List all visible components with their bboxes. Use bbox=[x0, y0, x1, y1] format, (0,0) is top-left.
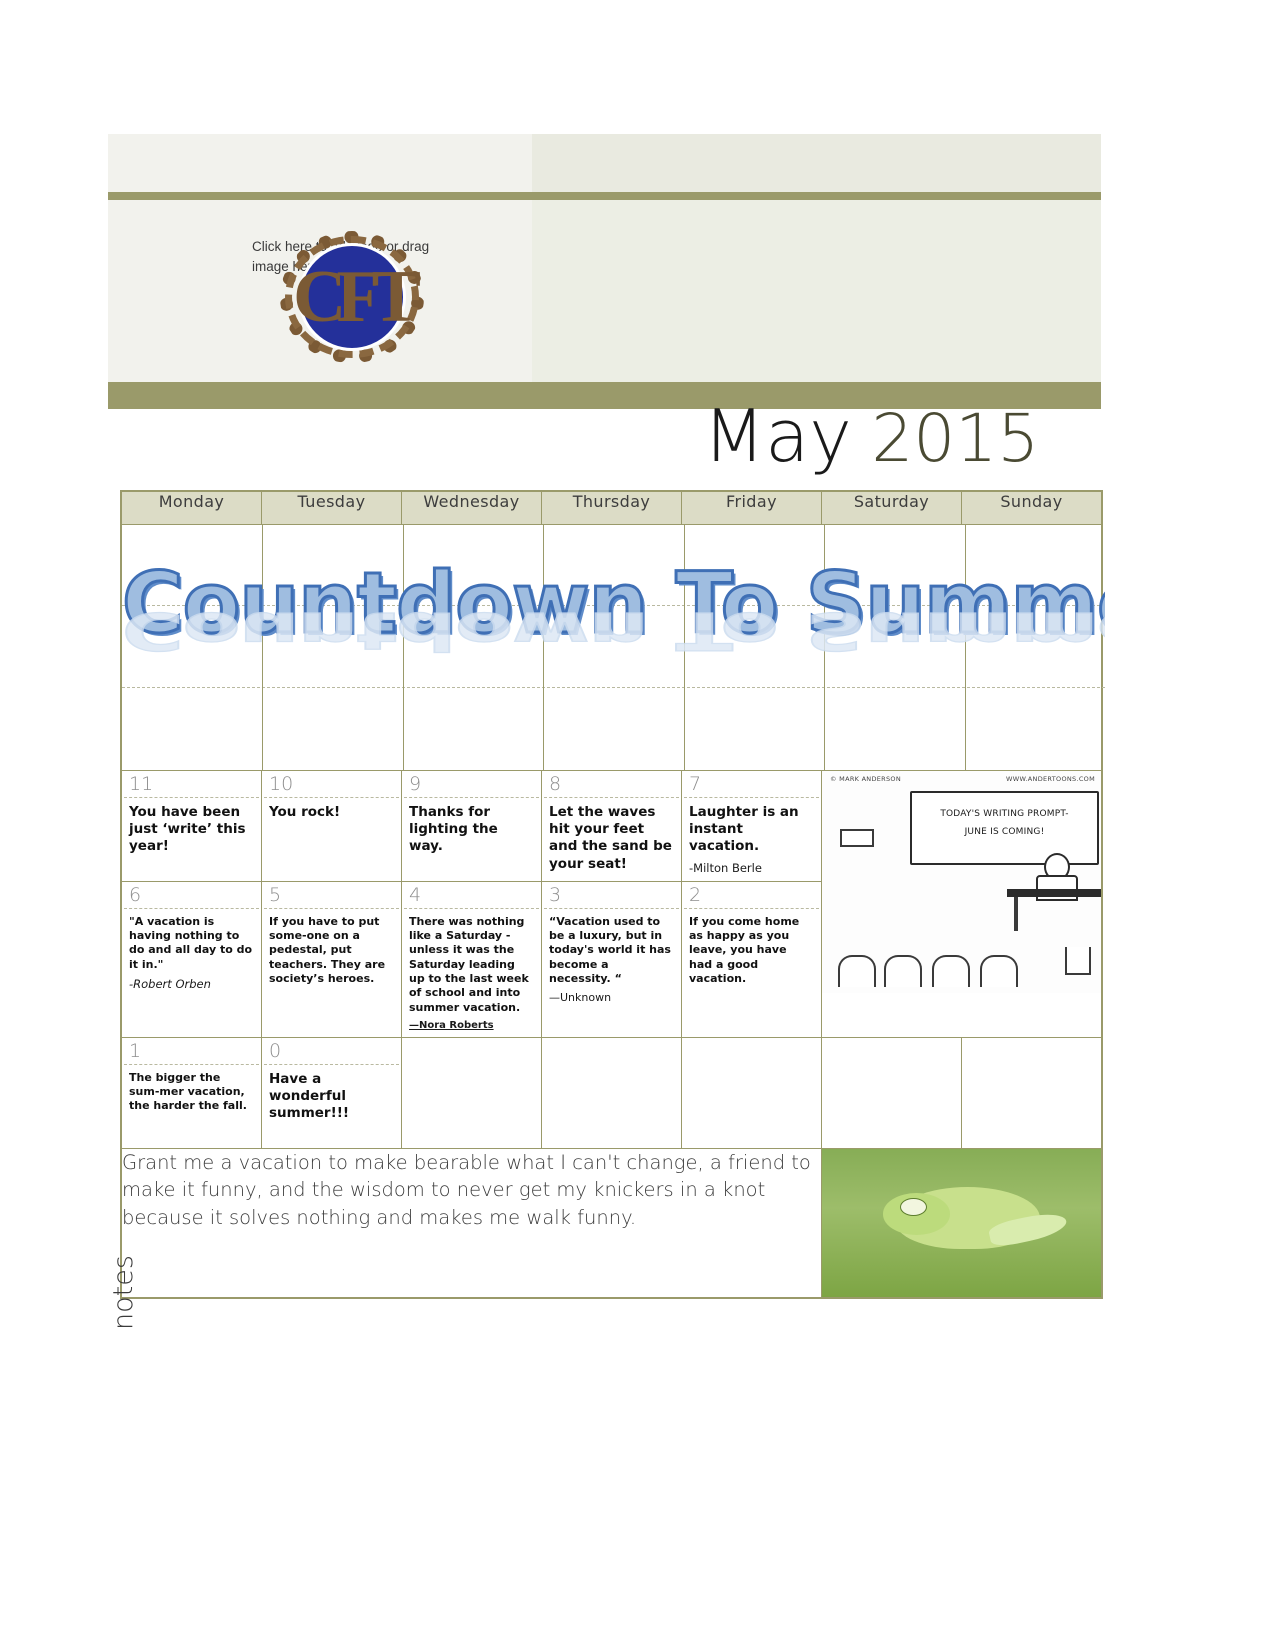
day-cell-7[interactable]: 7 Laughter is an instant vacation. -Milt… bbox=[682, 771, 822, 882]
banner-column-line bbox=[262, 525, 263, 770]
day-number: 10 bbox=[262, 771, 401, 797]
day-number: 7 bbox=[682, 771, 821, 797]
day-note-attribution: —Unknown bbox=[542, 990, 681, 1009]
whiteboard-line-1: TODAY'S WRITING PROMPT- bbox=[912, 809, 1097, 819]
student-shape bbox=[838, 955, 876, 987]
day-note: Let the waves hit your feet and the sand… bbox=[542, 798, 681, 877]
header-body-right-block bbox=[532, 200, 1101, 382]
frog-photo-cell bbox=[822, 1148, 1102, 1297]
day-note: “Vacation used to be a luxury, but in to… bbox=[542, 909, 681, 990]
day-number: 8 bbox=[542, 771, 681, 797]
banner-column-line bbox=[543, 525, 544, 770]
banner-row: Countdown To Summer! Countdown To Summer… bbox=[122, 525, 1102, 771]
relaxing-frog-photo bbox=[822, 1149, 1101, 1297]
banner-guide-line bbox=[122, 605, 1105, 606]
day-note: Laughter is an instant vacation. bbox=[682, 798, 821, 860]
day-number: 3 bbox=[542, 882, 681, 908]
day-note: There was nothing like a Saturday - unle… bbox=[402, 909, 541, 1019]
countdown-wordart-art: Countdown To Summer! Countdown To Summer… bbox=[122, 525, 1105, 770]
trashcan-shape bbox=[1065, 947, 1091, 975]
day-cell-10[interactable]: 10 You rock! bbox=[262, 771, 402, 882]
weekday-header-wednesday: Wednesday bbox=[402, 492, 542, 525]
teacher-body-shape bbox=[1036, 875, 1078, 901]
cft-logo-icon: CFT bbox=[280, 231, 424, 363]
student-shape bbox=[980, 955, 1018, 987]
day-cell-5[interactable]: 5 If you have to put some-one on a pedes… bbox=[262, 882, 402, 1038]
day-number: 6 bbox=[122, 882, 261, 908]
weekday-header-sunday: Sunday bbox=[962, 492, 1102, 525]
banner-column-line bbox=[684, 525, 685, 770]
day-cell-empty-sat[interactable] bbox=[822, 1037, 962, 1148]
andertoons-cartoon: © MARK ANDERSON WWW.ANDERTOONS.COM TODAY… bbox=[822, 771, 1101, 993]
weekday-header-row: Monday Tuesday Wednesday Thursday Friday… bbox=[122, 492, 1102, 525]
day-note: Thanks for lighting the way. bbox=[402, 798, 541, 860]
banner-guide-line bbox=[122, 687, 1105, 688]
whiteboard-line-2: JUNE IS COMING! bbox=[912, 827, 1097, 837]
weekday-header-monday: Monday bbox=[122, 492, 262, 525]
day-cell-9[interactable]: 9 Thanks for lighting the way. bbox=[402, 771, 542, 882]
weekday-header-saturday: Saturday bbox=[822, 492, 962, 525]
countdown-title: Countdown To Summer! bbox=[122, 561, 1105, 645]
day-cell-3[interactable]: 3 “Vacation used to be a luxury, but in … bbox=[542, 882, 682, 1038]
logo-placeholder-container[interactable]: Click here to add logo or drag image her… bbox=[242, 229, 462, 364]
day-note-attribution: -Robert Orben bbox=[122, 976, 261, 996]
page-title: May 2015 bbox=[703, 400, 1039, 472]
day-number: 1 bbox=[122, 1038, 261, 1064]
banner-column-line bbox=[965, 525, 966, 770]
day-note-attribution: -Milton Berle bbox=[682, 860, 821, 880]
whiteboard-shape: TODAY'S WRITING PROMPT- JUNE IS COMING! bbox=[910, 791, 1099, 865]
notes-label: notes bbox=[108, 1255, 139, 1330]
calendar-container: Monday Tuesday Wednesday Thursday Friday… bbox=[120, 490, 1103, 1299]
day-note: The bigger the sum-mer vacation, the har… bbox=[122, 1065, 261, 1118]
header-top-left-block bbox=[108, 134, 532, 192]
footer-quote-text: Grant me a vacation to make bearable wha… bbox=[122, 1149, 821, 1232]
weekday-header-friday: Friday bbox=[682, 492, 822, 525]
desk-leg-shape bbox=[1014, 897, 1018, 931]
header-top-right-block bbox=[532, 134, 1101, 192]
countdown-banner-cell: Countdown To Summer! Countdown To Summer… bbox=[122, 525, 1102, 771]
week-row: 11 You have been just ‘write’ this year!… bbox=[122, 771, 1102, 882]
month-name: May bbox=[703, 394, 852, 478]
day-note: If you have to put some-one on a pedesta… bbox=[262, 909, 401, 990]
cartoon-image-cell: © MARK ANDERSON WWW.ANDERTOONS.COM TODAY… bbox=[822, 771, 1102, 1038]
day-cell-4[interactable]: 4 There was nothing like a Saturday - un… bbox=[402, 882, 542, 1038]
day-cell-6[interactable]: 6 "A vacation is having nothing to do an… bbox=[122, 882, 262, 1038]
day-note: "A vacation is having nothing to do and … bbox=[122, 909, 261, 976]
student-shape bbox=[884, 955, 922, 987]
day-number: 2 bbox=[682, 882, 821, 908]
frog-eye-shape bbox=[900, 1198, 927, 1216]
banner-column-line bbox=[403, 525, 404, 770]
weekday-header-tuesday: Tuesday bbox=[262, 492, 402, 525]
day-cell-8[interactable]: 8 Let the waves hit your feet and the sa… bbox=[542, 771, 682, 882]
student-shape bbox=[932, 955, 970, 987]
desk-shape bbox=[1007, 889, 1101, 897]
day-number: 9 bbox=[402, 771, 541, 797]
day-note: If you come home as happy as you leave, … bbox=[682, 909, 821, 990]
weekday-header-thursday: Thursday bbox=[542, 492, 682, 525]
footer-quote-cell: Grant me a vacation to make bearable wha… bbox=[122, 1148, 822, 1297]
projector-icon bbox=[840, 829, 874, 847]
day-note: You rock! bbox=[262, 798, 401, 825]
day-cell-empty-sun[interactable] bbox=[962, 1037, 1102, 1148]
day-cell-11[interactable]: 11 You have been just ‘write’ this year! bbox=[122, 771, 262, 882]
day-cell-0[interactable]: 0 Have a wonderful summer!!! bbox=[262, 1037, 402, 1148]
day-number: 11 bbox=[122, 771, 261, 797]
page-header-banner: Click here to add logo or drag image her… bbox=[108, 134, 1101, 409]
year-number: 2015 bbox=[871, 400, 1039, 477]
header-top-rule bbox=[108, 192, 1101, 200]
day-cell-2[interactable]: 2 If you come home as happy as you leave… bbox=[682, 882, 822, 1038]
day-cell-empty-thu[interactable] bbox=[542, 1037, 682, 1148]
day-note: You have been just ‘write’ this year! bbox=[122, 798, 261, 860]
countdown-title-reflection: Countdown To Summer! bbox=[122, 605, 1105, 657]
day-cell-empty-fri[interactable] bbox=[682, 1037, 822, 1148]
day-note: Have a wonderful summer!!! bbox=[262, 1065, 401, 1127]
calendar-table: Monday Tuesday Wednesday Thursday Friday… bbox=[121, 491, 1102, 1298]
cartoon-credit-left: © MARK ANDERSON bbox=[830, 775, 901, 783]
week-row: 1 The bigger the sum-mer vacation, the h… bbox=[122, 1037, 1102, 1148]
banner-column-line bbox=[824, 525, 825, 770]
day-note-attribution: —Nora Roberts bbox=[402, 1019, 541, 1037]
cartoon-credit-right: WWW.ANDERTOONS.COM bbox=[1006, 775, 1095, 783]
day-cell-1[interactable]: 1 The bigger the sum-mer vacation, the h… bbox=[122, 1037, 262, 1148]
day-number: 0 bbox=[262, 1038, 401, 1064]
day-cell-empty-wed[interactable] bbox=[402, 1037, 542, 1148]
logo-monogram: CFT bbox=[280, 231, 424, 363]
day-number: 5 bbox=[262, 882, 401, 908]
day-number: 4 bbox=[402, 882, 541, 908]
footer-row: Grant me a vacation to make bearable wha… bbox=[122, 1148, 1102, 1297]
